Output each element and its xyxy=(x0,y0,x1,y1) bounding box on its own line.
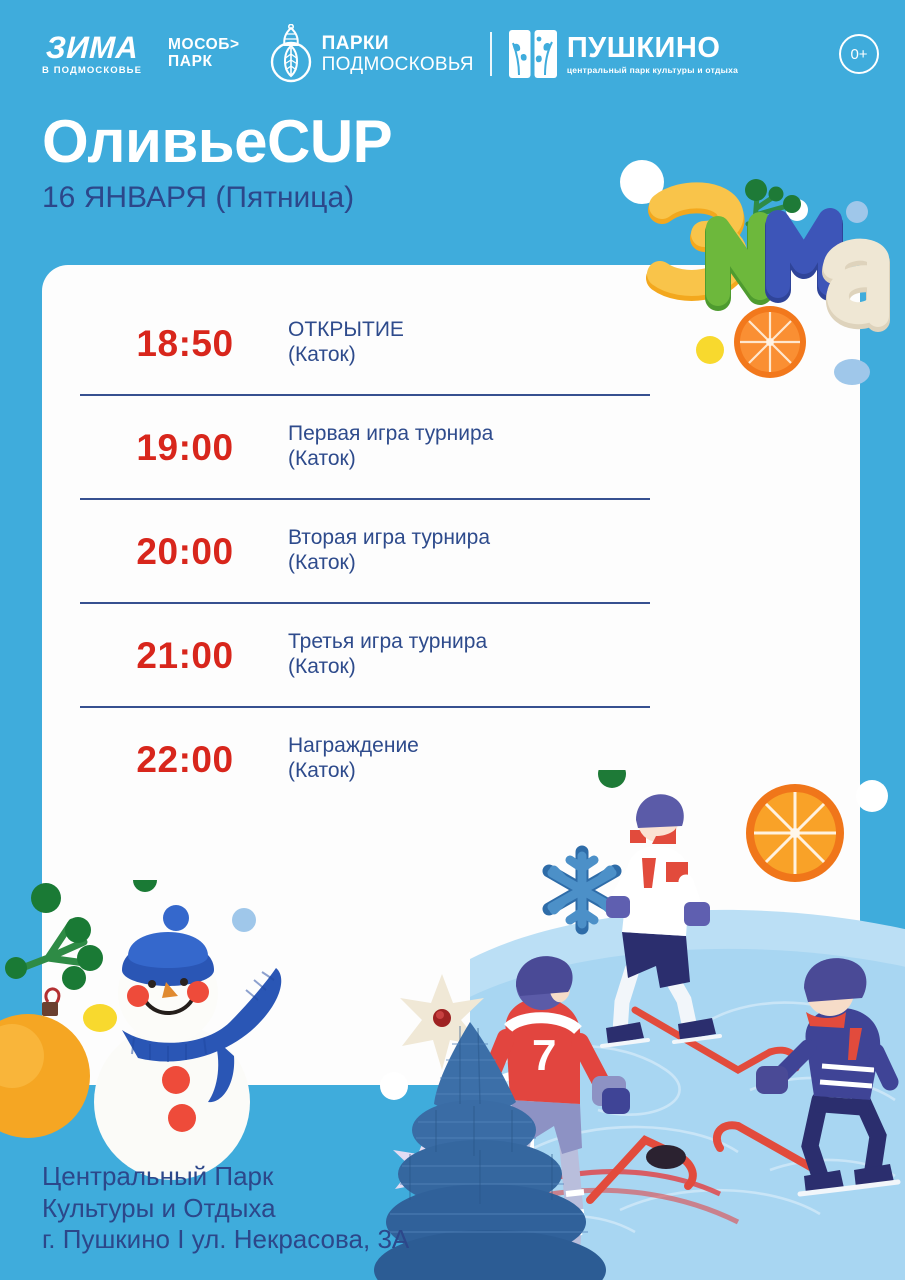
schedule-place: (Каток) xyxy=(288,551,490,576)
mosoblpark-logo-line1: МОСОБ> xyxy=(168,37,240,54)
table-row: 22:00 Награждение (Каток) xyxy=(80,708,680,810)
title-block: ОливьеCUP 16 ЯНВАРЯ (Пятница) xyxy=(42,112,392,213)
row-divider xyxy=(80,706,650,708)
address-line-2: Культуры и Отдыха xyxy=(42,1193,409,1225)
age-rating-badge: 0+ xyxy=(839,34,879,74)
venue-address: Центральный Парк Культуры и Отдыха г. Пу… xyxy=(42,1161,409,1256)
schedule-place: (Каток) xyxy=(288,447,493,472)
logo-divider xyxy=(490,32,492,76)
zima-logo-sub: В ПОДМОСКОВЬЕ xyxy=(42,66,142,76)
schedule-time: 21:00 xyxy=(90,637,280,674)
zima-logo: ЗИМА В ПОДМОСКОВЬЕ xyxy=(42,32,142,76)
header-logo-bar: ЗИМА В ПОДМОСКОВЬЕ МОСОБ> ПАРК ПАРКИ ПОД… xyxy=(0,18,905,90)
parki-logo-line1: ПАРКИ xyxy=(322,34,474,53)
hockey-goal-net xyxy=(470,1070,530,1260)
poster-root: ЗИМА В ПОДМОСКОВЬЕ МОСОБ> ПАРК ПАРКИ ПОД… xyxy=(0,0,905,1280)
park-tree-square-icon xyxy=(508,29,558,79)
row-divider xyxy=(80,602,650,604)
berry-sprig-icon xyxy=(745,179,801,224)
table-row: 18:50 ОТКРЫТИЕ (Каток) xyxy=(80,292,680,394)
pushkino-logo-line2: центральный парк культуры и отдыха xyxy=(567,66,738,75)
pushkino-logo: ПУШКИНО центральный парк культуры и отды… xyxy=(508,29,738,79)
zima-logo-main: ЗИМА xyxy=(45,32,139,63)
schedule-time: 20:00 xyxy=(90,533,280,570)
pushkino-logo-line1: ПУШКИНО xyxy=(567,34,738,63)
row-divider xyxy=(80,498,650,500)
schedule-event: Награждение xyxy=(288,734,419,759)
row-divider xyxy=(80,394,650,396)
table-row: 20:00 Вторая игра турнира (Каток) xyxy=(80,500,680,602)
table-row: 19:00 Первая игра турнира (Каток) xyxy=(80,396,680,498)
page-title: ОливьеCUP xyxy=(42,112,392,172)
event-date: 16 ЯНВАРЯ (Пятница) xyxy=(42,183,392,213)
table-row: 21:00 Третья игра турнира (Каток) xyxy=(80,604,680,706)
parki-logo-line2: ПОДМОСКОВЬЯ xyxy=(322,55,474,74)
schedule-event: Вторая игра турнира xyxy=(288,526,490,551)
address-line-1: Центральный Парк xyxy=(42,1161,409,1193)
schedule-place: (Каток) xyxy=(288,655,487,680)
schedule-event: Третья игра турнира xyxy=(288,630,487,655)
mosoblpark-logo: МОСОБ> ПАРК xyxy=(168,37,240,70)
pinecone-leaf-icon xyxy=(268,24,314,84)
parki-podmoskovya-logo: ПАРКИ ПОДМОСКОВЬЯ xyxy=(268,24,474,84)
schedule-place: (Каток) xyxy=(288,759,419,784)
schedule-event: Первая игра турнира xyxy=(288,422,493,447)
schedule-time: 19:00 xyxy=(90,429,280,466)
schedule-time: 22:00 xyxy=(90,741,280,778)
schedule-time: 18:50 xyxy=(90,325,280,362)
mosoblpark-logo-line2: ПАРК xyxy=(168,54,240,71)
schedule-list: 18:50 ОТКРЫТИЕ (Каток) 19:00 Первая игра… xyxy=(80,292,680,810)
schedule-place: (Каток) xyxy=(288,343,404,368)
address-line-3: г. Пушкино I ул. Некрасова, 3А xyxy=(42,1224,409,1256)
schedule-event: ОТКРЫТИЕ xyxy=(288,318,404,343)
